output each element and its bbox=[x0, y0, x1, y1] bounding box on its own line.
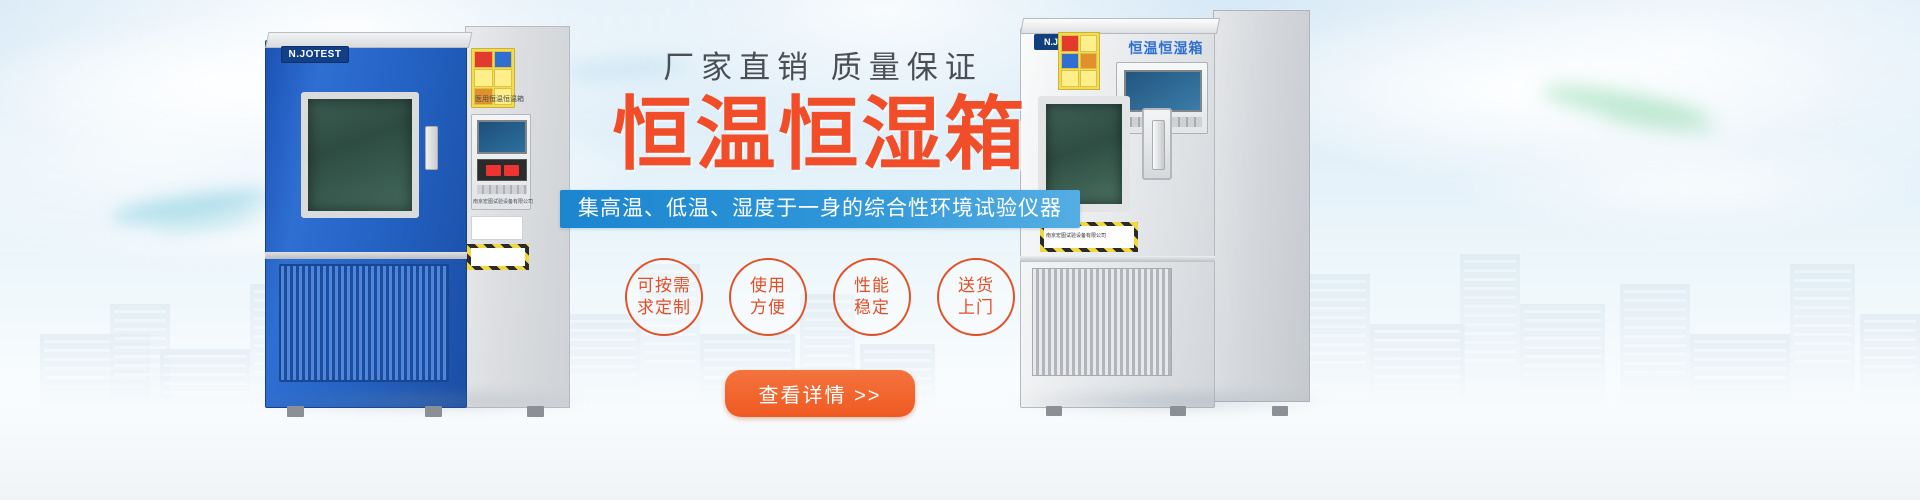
controller-buttons bbox=[477, 185, 527, 194]
banner-headline: 恒温恒湿箱 bbox=[560, 93, 1080, 178]
chamber-top-cap bbox=[1020, 18, 1220, 34]
banner-subtitle-bar: 集高温、低温、湿度于一身的综合性环境试验仪器 bbox=[560, 190, 1080, 228]
badge-line-2: 上门 bbox=[958, 297, 994, 319]
badge-line-1: 可按需 bbox=[637, 275, 691, 297]
banner-tagline: 厂家直销 质量保证 bbox=[560, 42, 1080, 87]
badge-line-2: 方便 bbox=[750, 297, 786, 319]
promo-banner: N.JOTEST 医用恒温恒温箱 南京宏图试验设备有限公司 N.JOTEST 恒… bbox=[0, 0, 1920, 500]
badge-line-1: 使用 bbox=[750, 275, 786, 297]
chamber-company-text-left: 南京宏图试验设备有限公司 bbox=[473, 198, 533, 205]
hazard-stripe-label-left bbox=[467, 244, 529, 270]
chamber-base-vent bbox=[279, 264, 449, 382]
chamber-door-handle bbox=[1142, 108, 1172, 180]
controller-screen bbox=[477, 120, 527, 154]
feature-badge-easy-use[interactable]: 使用 方便 bbox=[729, 258, 807, 336]
badge-line-2: 稳定 bbox=[854, 297, 890, 319]
cta-wrapper: 查看详情 >> bbox=[560, 370, 1080, 417]
chamber-door-handle bbox=[425, 126, 438, 170]
control-panel-left bbox=[471, 114, 531, 210]
feature-badge-delivery[interactable]: 送货 上门 bbox=[937, 258, 1015, 336]
banner-content: 厂家直销 质量保证 恒温恒湿箱 集高温、低温、湿度于一身的综合性环境试验仪器 可… bbox=[560, 42, 1080, 462]
badge-line-1: 送货 bbox=[958, 275, 994, 297]
feature-badge-custom[interactable]: 可按需 求定制 bbox=[625, 258, 703, 336]
brand-logo-left: N.JOTEST bbox=[281, 46, 349, 63]
spec-label-left bbox=[471, 216, 523, 240]
chamber-model-text-left: 医用恒温恒温箱 bbox=[475, 94, 524, 104]
controller-screen bbox=[1124, 70, 1202, 112]
controller-digits bbox=[477, 159, 527, 181]
view-details-button[interactable]: 查看详情 >> bbox=[725, 370, 916, 417]
product-image-left-chamber: N.JOTEST 医用恒温恒温箱 南京宏图试验设备有限公司 bbox=[265, 26, 570, 408]
feature-badge-stable[interactable]: 性能 稳定 bbox=[833, 258, 911, 336]
chamber-brand-text-right: 恒温恒湿箱 bbox=[1120, 38, 1212, 58]
chamber-side-panel bbox=[1213, 10, 1310, 402]
machine-shadow bbox=[250, 388, 590, 414]
chamber-divider bbox=[265, 252, 467, 259]
chamber-viewing-window bbox=[301, 92, 419, 218]
feature-badge-list: 可按需 求定制 使用 方便 性能 稳定 送货 上门 bbox=[560, 258, 1080, 336]
badge-line-1: 性能 bbox=[854, 275, 890, 297]
badge-line-2: 求定制 bbox=[637, 297, 691, 319]
